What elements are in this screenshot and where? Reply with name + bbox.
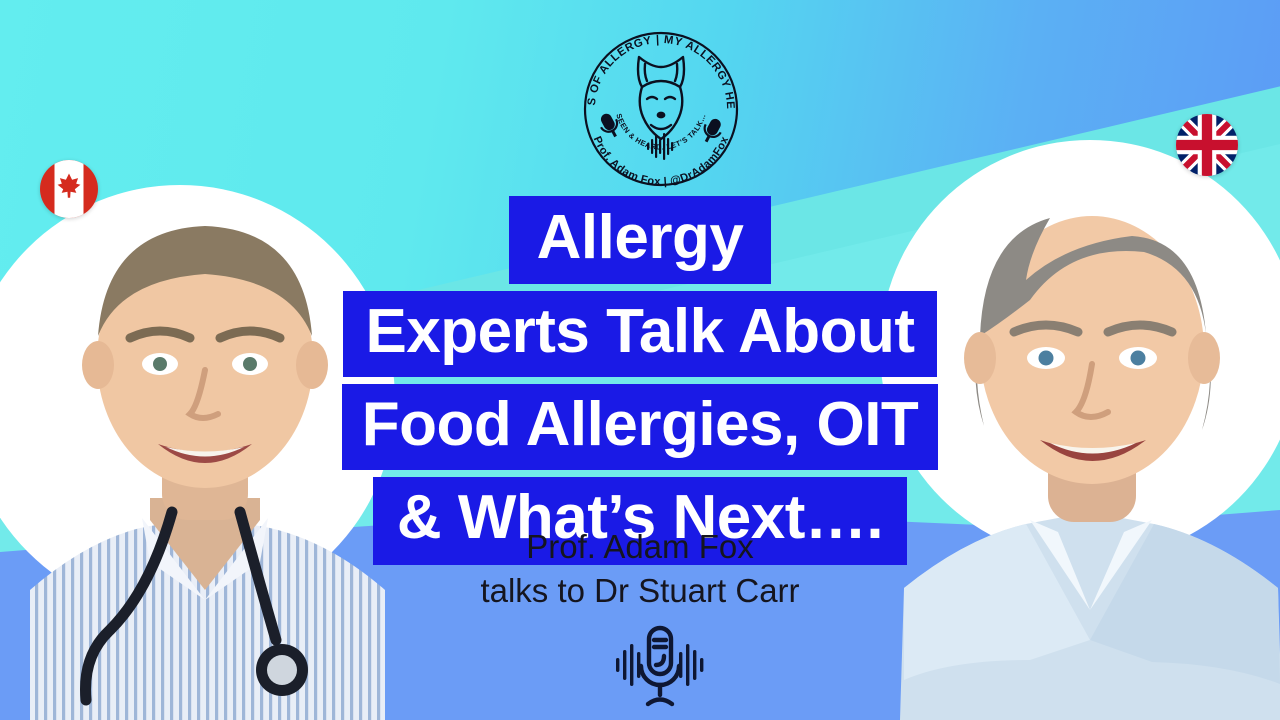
- subtitle-block: Prof. Adam Fox talks to Dr Stuart Carr: [0, 525, 1280, 612]
- fox-head-icon: [638, 57, 684, 139]
- flag-united-kingdom: [1176, 114, 1238, 176]
- podcast-microphone-icon: [612, 622, 708, 710]
- title-line-2: Experts Talk About: [343, 291, 936, 377]
- subtitle-line-1: Prof. Adam Fox: [0, 525, 1280, 569]
- title-block: Allergy Experts Talk About Food Allergie…: [0, 196, 1280, 565]
- title-line-3: Food Allergies, OIT: [342, 384, 939, 470]
- thumbnail-canvas: VOICES OF ALLERGY | MY ALLERGY HEROES SE…: [0, 0, 1280, 720]
- title-line-1: Allergy: [509, 196, 772, 284]
- voices-of-allergy-logo: VOICES OF ALLERGY | MY ALLERGY HEROES SE…: [573, 21, 749, 197]
- subtitle-line-2: talks to Dr Stuart Carr: [0, 569, 1280, 613]
